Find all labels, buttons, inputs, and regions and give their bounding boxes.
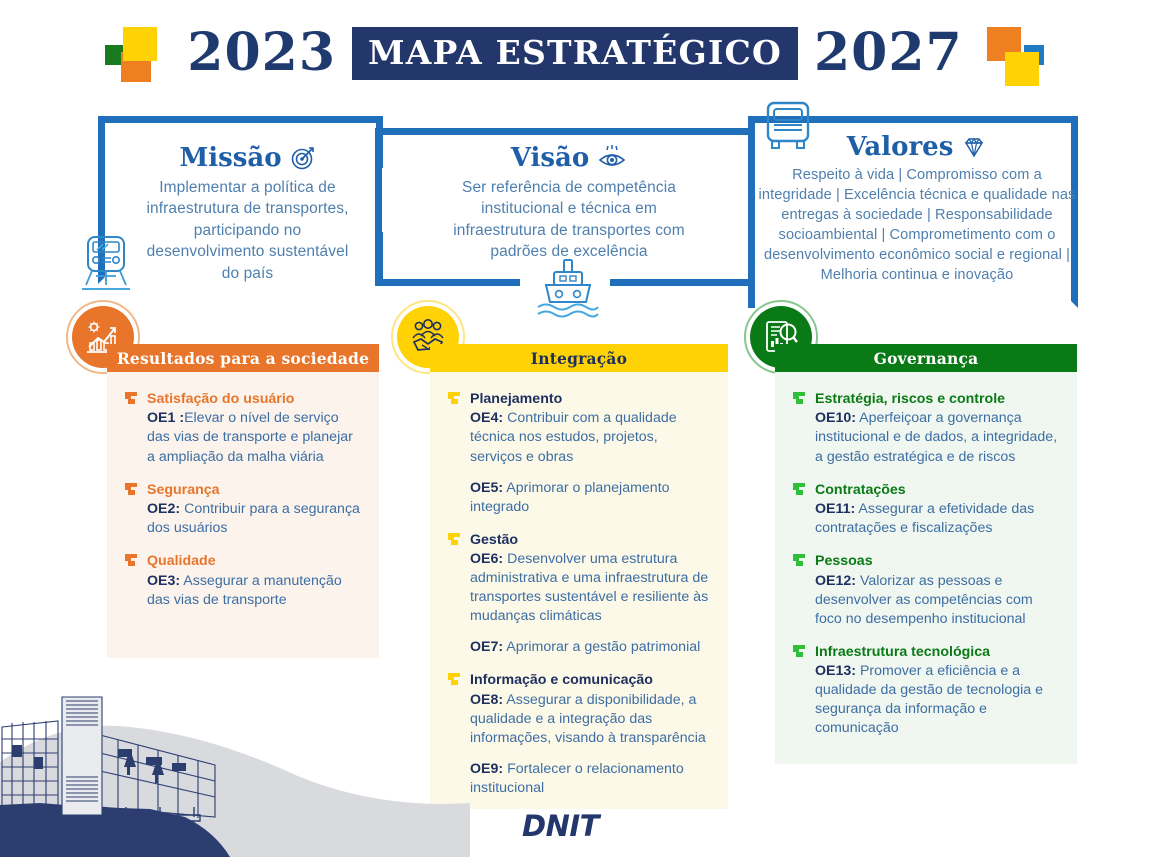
- objective-text: Fortalecer o relacionamento instituciona…: [470, 761, 684, 796]
- objective-group-title: Pessoas: [815, 552, 1061, 570]
- flag-bullet-icon: [125, 554, 138, 566]
- objective-item: OE3: Assegurar a manutenção das vias de …: [147, 572, 363, 610]
- square-yellow-icon: [1005, 52, 1039, 86]
- map-title-box: MAPA ESTRATÉGICO: [352, 27, 798, 80]
- train-icon: [78, 232, 134, 294]
- objective-group-title: Infraestrutura tecnológica: [815, 643, 1061, 661]
- square-yellow-icon: [123, 27, 157, 61]
- objective-group: ContrataçõesOE11: Assegurar a efetividad…: [793, 481, 1061, 539]
- flag-bullet-icon: [448, 392, 461, 404]
- objective-item: OE10: Aperfeiçoar a governança instituci…: [815, 409, 1061, 466]
- objective-group: Infraestrutura tecnológicaOE13: Promover…: [793, 643, 1061, 739]
- column-body-resultados: Satisfação do usuárioOE1 :Elevar o nível…: [107, 372, 379, 658]
- objective-group-title: Planejamento: [470, 390, 712, 408]
- flag-bullet-icon: [125, 483, 138, 495]
- objective-item: OE9: Fortalecer o relacionamento institu…: [470, 760, 712, 798]
- objective-item: OE12: Valorizar as pessoas e desenvolver…: [815, 572, 1061, 629]
- objective-group: SegurançaOE2: Contribuir para a seguranç…: [125, 481, 363, 539]
- objective-item: OE5: Aprimorar o planejamento integrado: [470, 479, 712, 517]
- objective-item: OE1 :Elevar o nível de serviço das vias …: [147, 409, 363, 466]
- year-start: 2023: [187, 27, 336, 79]
- flag-bullet-icon: [793, 645, 806, 657]
- objective-text: Aprimorar a gestão patrimonial: [503, 639, 700, 655]
- visao-heading-text: Visão: [511, 143, 589, 173]
- objective-code: OE6:: [470, 551, 503, 567]
- missao-text: Implementar a política de infraestrutura…: [140, 177, 355, 284]
- flag-bullet-icon: [793, 554, 806, 566]
- objective-code: OE3:: [147, 573, 180, 589]
- dnit-building-illustration: [0, 657, 470, 857]
- objective-text: Assegurar a disponibilidade, a qualidade…: [470, 692, 706, 746]
- visao-heading: Visão: [435, 143, 703, 173]
- target-icon: [290, 145, 316, 171]
- visao-block: Visão Ser referência de competência inst…: [435, 143, 703, 263]
- column-title: Resultados para a sociedade: [117, 349, 369, 368]
- column-title: Integração: [531, 349, 627, 368]
- column-header-resultados: Resultados para a sociedade: [107, 344, 379, 372]
- valores-heading-text: Valores: [847, 132, 954, 162]
- page-title: MAPA ESTRATÉGICO: [368, 36, 782, 69]
- missao-heading: Missão: [140, 143, 355, 173]
- objective-group-title: Segurança: [147, 481, 363, 499]
- objective-group: PlanejamentoOE4: Contribuir com a qualid…: [448, 390, 712, 517]
- dnit-logo: DNIT: [522, 809, 599, 843]
- objective-group-title: Qualidade: [147, 552, 363, 570]
- column-header-integracao: Integração: [430, 344, 728, 372]
- objective-code: OE8:: [470, 692, 503, 708]
- objective-code: OE5:: [470, 480, 503, 496]
- decorative-squares-right: [979, 21, 1051, 85]
- flag-bullet-icon: [448, 533, 461, 545]
- objective-item: OE8: Assegurar a disponibilidade, a qual…: [470, 691, 712, 748]
- objective-group: Estratégia, riscos e controleOE10: Aperf…: [793, 390, 1061, 467]
- objective-group: Satisfação do usuárioOE1 :Elevar o nível…: [125, 390, 363, 467]
- objective-code: OE4:: [470, 410, 503, 426]
- flag-bullet-icon: [125, 392, 138, 404]
- objective-group: GestãoOE6: Desenvolver uma estrutura adm…: [448, 531, 712, 658]
- objective-group-title: Satisfação do usuário: [147, 390, 363, 408]
- objective-group: PessoasOE12: Valorizar as pessoas e dese…: [793, 552, 1061, 629]
- strategic-map-poster: 2023 MAPA ESTRATÉGICO 2027 Missão: [0, 0, 1150, 857]
- column-header-governanca: Governança: [775, 344, 1077, 372]
- missao-block: Missão Implementar a política de infraes…: [140, 143, 355, 284]
- objective-item: OE11: Assegurar a efetividade das contra…: [815, 500, 1061, 538]
- decorative-squares-left: [99, 21, 171, 85]
- objective-group-title: Estratégia, riscos e controle: [815, 390, 1061, 408]
- diamond-icon: [961, 134, 987, 160]
- flag-bullet-icon: [793, 392, 806, 404]
- flag-bullet-icon: [793, 483, 806, 495]
- objective-item: OE6: Desenvolver uma estrutura administr…: [470, 550, 712, 626]
- objective-group-title: Gestão: [470, 531, 712, 549]
- poster-header: 2023 MAPA ESTRATÉGICO 2027: [0, 14, 1150, 92]
- objective-code: OE13:: [815, 663, 856, 679]
- truck-icon: [762, 100, 814, 156]
- objective-code: OE9:: [470, 761, 503, 777]
- objective-code: OE11:: [815, 501, 855, 517]
- objective-text: Desenvolver uma estrutura administrativa…: [470, 551, 708, 624]
- column-body-governanca: Estratégia, riscos e controleOE10: Aperf…: [775, 372, 1077, 764]
- column-body-integracao: PlanejamentoOE4: Contribuir com a qualid…: [430, 372, 728, 809]
- objective-group-title: Contratações: [815, 481, 1061, 499]
- ship-icon: [532, 258, 604, 320]
- eye-icon: [597, 145, 627, 171]
- objective-item: OE4: Contribuir com a qualidade técnica …: [470, 409, 712, 466]
- objective-group: QualidadeOE3: Assegurar a manutenção das…: [125, 552, 363, 610]
- year-end: 2027: [814, 27, 963, 79]
- visao-text: Ser referência de competência institucio…: [435, 177, 703, 263]
- objective-code: OE1 :: [147, 410, 184, 426]
- objective-group: Informação e comunicaçãoOE8: Assegurar a…: [448, 671, 712, 798]
- objective-code: OE2:: [147, 501, 180, 517]
- objective-item: OE2: Contribuir para a segurança dos usu…: [147, 500, 363, 538]
- valores-text: Respeito à vida | Compromisso com a inte…: [755, 166, 1079, 286]
- objective-code: OE10:: [815, 410, 856, 426]
- missao-heading-text: Missão: [179, 143, 281, 173]
- objective-item: OE7: Aprimorar a gestão patrimonial: [470, 638, 712, 657]
- objective-group-title: Informação e comunicação: [470, 671, 712, 689]
- column-title: Governança: [874, 349, 979, 368]
- objective-item: OE13: Promover a eficiência e a qualidad…: [815, 662, 1061, 738]
- objective-code: OE12:: [815, 573, 856, 589]
- objective-code: OE7:: [470, 639, 503, 655]
